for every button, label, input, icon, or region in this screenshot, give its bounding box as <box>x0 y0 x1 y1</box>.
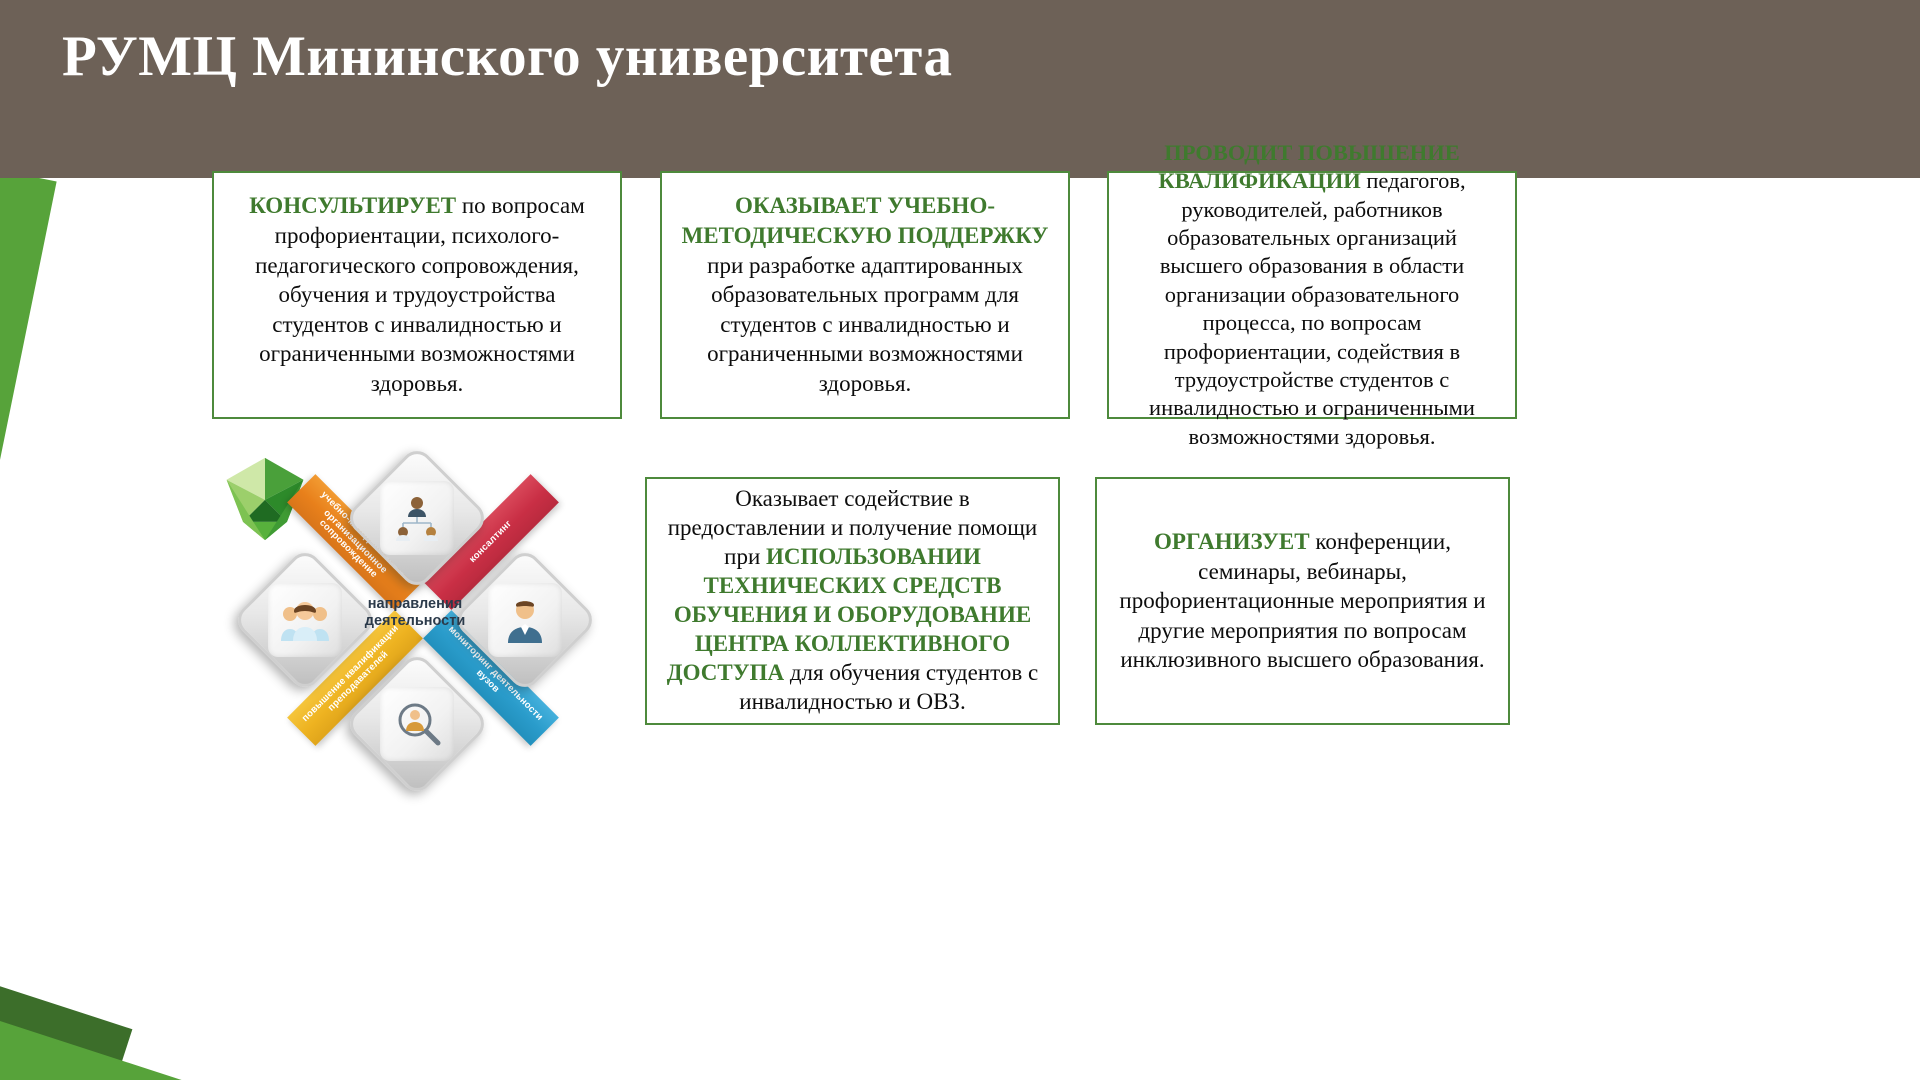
consult-card-text: КОНСУЛЬТИРУЕТ по вопросам профориентации… <box>230 191 604 399</box>
technical-means-card: Оказывает содействие в предоставлении и … <box>645 477 1060 725</box>
method-support-card-text: ОКАЗЫВАЕТ УЧЕБНО-МЕТОДИЧЕСКУЮ ПОДДЕРЖКУ … <box>678 191 1052 399</box>
technical-means-card-text: Оказывает содействие в предоставлении и … <box>663 485 1042 717</box>
method-support-card-highlight: ОКАЗЫВАЕТ УЧЕБНО-МЕТОДИЧЕСКУЮ ПОДДЕРЖКУ <box>682 193 1049 248</box>
organize-card: ОРГАНИЗУЕТ конференции, семинары, вебина… <box>1095 477 1510 725</box>
technical-means-card-body: для обучения студентов с инвалидностью и… <box>739 660 1038 714</box>
method-support-card: ОКАЗЫВАЕТ УЧЕБНО-МЕТОДИЧЕСКУЮ ПОДДЕРЖКУ … <box>660 171 1070 419</box>
page-title: РУМЦ Мининского университета <box>62 26 953 89</box>
qualification-card: ПРОВОДИТ ПОВЫШЕНИЕ КВАЛИФИКАЦИИ педагого… <box>1107 171 1517 419</box>
consult-card-body: по вопросам профориентации, психолого-пе… <box>255 193 585 396</box>
decor-stripe-dark-green <box>0 918 132 1079</box>
decor-stripe-green-lower <box>0 1008 264 1080</box>
magnifier-person-icon <box>380 687 454 761</box>
qualification-card-body: педагогов, руководителей, работников обр… <box>1149 168 1475 448</box>
organize-card-text: ОРГАНИЗУЕТ конференции, семинары, вебина… <box>1113 527 1492 675</box>
activity-directions-diagram: учебно-методическое и организационное со… <box>205 448 605 768</box>
businessman-icon <box>488 583 562 657</box>
consult-card: КОНСУЛЬТИРУЕТ по вопросам профориентации… <box>212 171 622 419</box>
method-support-card-body: при разработке адаптированных образовате… <box>707 253 1023 397</box>
organize-card-highlight: ОРГАНИЗУЕТ <box>1154 529 1310 554</box>
qualification-card-text: ПРОВОДИТ ПОВЫШЕНИЕ КВАЛИФИКАЦИИ педагого… <box>1125 139 1499 451</box>
group-people-icon <box>268 583 342 657</box>
presentation-slide: РУМЦ Мининского университета КОНСУЛЬТИРУ… <box>0 0 1920 1080</box>
consult-card-highlight: КОНСУЛЬТИРУЕТ <box>249 193 456 218</box>
decor-stripe-gray-lower <box>0 968 131 1080</box>
org-chart-people-icon <box>380 481 454 555</box>
diagram-center-label: направления деятельности <box>345 596 485 631</box>
decor-stripe-green <box>0 178 57 1063</box>
